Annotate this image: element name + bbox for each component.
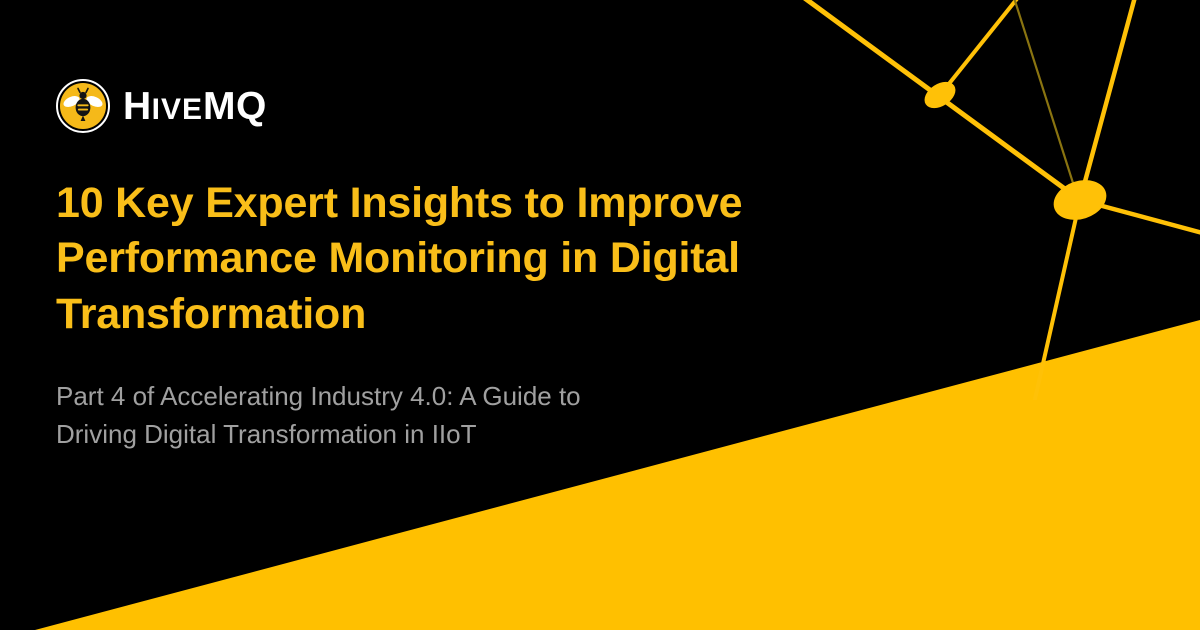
headline-line-3: Transformation: [56, 287, 786, 342]
page-subtitle: Part 4 of Accelerating Industry 4.0: A G…: [56, 378, 736, 454]
social-share-card: H IVE MQ 10 Key Expert Insights to Impro…: [0, 0, 1200, 630]
headline-line-1: 10 Key Expert Insights to Improve: [56, 176, 786, 231]
page-title: 10 Key Expert Insights to Improve Perfor…: [56, 176, 786, 342]
wordmark-h: H: [123, 87, 152, 126]
subtitle-line-2: Driving Digital Transformation in IIoT: [56, 416, 736, 454]
network-node-small: [920, 77, 960, 114]
hivemq-logo[interactable]: H IVE MQ: [56, 78, 816, 134]
wordmark-ive: IVE: [152, 95, 203, 125]
hivemq-wordmark: H IVE MQ: [123, 87, 267, 126]
wordmark-mq: MQ: [203, 87, 267, 126]
bee-in-circle-icon: [56, 79, 110, 133]
network-node-large: [1048, 174, 1111, 227]
headline-line-2: Performance Monitoring in Digital: [56, 231, 786, 286]
card-content: H IVE MQ 10 Key Expert Insights to Impro…: [56, 78, 816, 454]
subtitle-line-1: Part 4 of Accelerating Industry 4.0: A G…: [56, 378, 736, 416]
network-nodes-graphic: [780, 0, 1200, 400]
